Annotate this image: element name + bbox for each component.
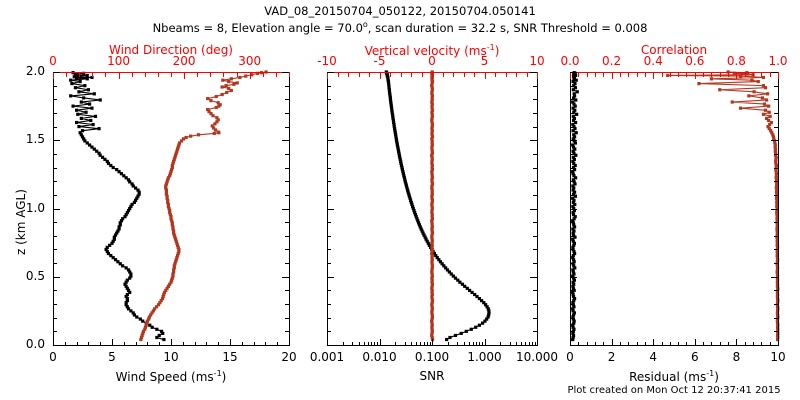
panel3-top-xtick	[770, 73, 771, 77]
panel3-xtick	[587, 342, 588, 345]
panel3-top-xtick	[587, 73, 588, 77]
panel1-ytick	[53, 222, 57, 223]
panel3-ytick	[570, 168, 574, 169]
panel2-xtick	[525, 342, 526, 345]
panel2-top-xtick	[338, 73, 339, 77]
panel3-xtick	[612, 339, 613, 345]
panel2-ytick-right	[530, 345, 537, 346]
panel3-xtick	[770, 342, 771, 345]
panel2-ytick-right	[533, 222, 537, 223]
panel2-top-xtick	[485, 73, 486, 79]
panel2-xtick	[516, 342, 517, 345]
panel2-xtick	[416, 342, 417, 345]
y-tick-label: 1.0	[26, 202, 45, 214]
panel3-ytick	[570, 331, 574, 332]
panel1-ytick	[53, 277, 60, 278]
panel2-plot-area	[327, 72, 539, 347]
panel3-top-xtick	[653, 73, 654, 79]
panel2-xtick	[537, 339, 538, 345]
panel2-ytick	[327, 127, 331, 128]
panel3-top-xtick	[736, 73, 737, 79]
x-tick-label: 4	[649, 351, 657, 363]
panel3-ytick-right	[774, 331, 778, 332]
plot-caption: Plot created on Mon Oct 12 20:37:41 2015	[567, 386, 780, 396]
panel1-ytick	[53, 154, 57, 155]
panel3-ytick-right	[774, 263, 778, 264]
panel-snr	[327, 72, 537, 345]
panel3-top-xtick	[670, 73, 671, 77]
panel3-top-xtick	[637, 73, 638, 77]
panel1-xtick	[136, 342, 137, 345]
panel1-ytick	[53, 113, 57, 114]
panel3-ytick-right	[774, 222, 778, 223]
panel1-axis-bottom	[53, 345, 289, 346]
series-markers-correlation	[666, 70, 779, 341]
panel3-xtick	[670, 342, 671, 345]
panel1-xtick	[206, 342, 207, 345]
panel3-xtick	[653, 339, 654, 345]
x-tick-label: 0.001	[310, 351, 344, 363]
panel1-ytick-right	[282, 345, 289, 346]
panel2-ytick	[327, 345, 334, 346]
panel2-top-xtick	[464, 73, 465, 77]
panel3-axis-right	[778, 72, 779, 346]
panel2-ytick-right	[533, 127, 537, 128]
panel3-ytick-right	[774, 249, 778, 250]
panel3-top-xtick	[578, 73, 579, 77]
panel2-top-xtick	[495, 73, 496, 77]
panel2-ytick-right	[530, 72, 537, 73]
panel3-ytick-right	[774, 99, 778, 100]
panel1-ytick-right	[282, 277, 289, 278]
panel1-ytick-right	[282, 140, 289, 141]
series-markers-vertical-velocity	[430, 70, 434, 341]
panel3-ytick-right	[771, 209, 778, 210]
y-tick-label: 2.0	[26, 65, 45, 77]
panel2-xtick	[432, 339, 433, 345]
panel1-top-xtick	[289, 73, 290, 77]
panel1-ytick-right	[285, 318, 289, 319]
panel3-ytick	[570, 154, 574, 155]
panel3-top-xtick	[703, 73, 704, 77]
panel1-top-xtick	[184, 73, 185, 79]
panel1-ytick-right	[285, 222, 289, 223]
panel1-xtick	[289, 339, 290, 345]
panel2-top-xtick	[327, 73, 328, 79]
panel2-top-xtick	[380, 73, 381, 79]
panel3-top-xtick	[778, 73, 779, 79]
panel3-top-xtick	[612, 73, 613, 79]
panel2-ytick-right	[530, 140, 537, 141]
panel3-ytick	[570, 127, 574, 128]
panel3-xtick	[637, 342, 638, 345]
top-x-tick-label: 100	[107, 55, 130, 67]
panel2-xtick	[359, 342, 360, 345]
panel1-xtick	[53, 339, 54, 345]
panel1-ytick-right	[285, 249, 289, 250]
panel1-ytick	[53, 263, 57, 264]
panel1-ytick-right	[282, 209, 289, 210]
top-x-tick-label: 0	[428, 55, 436, 67]
panel1-xtick	[65, 342, 66, 345]
panel3-ytick	[570, 236, 574, 237]
panel2-ytick-right	[533, 318, 537, 319]
panel1-ytick	[53, 290, 57, 291]
panel3-ytick-right	[771, 140, 778, 141]
panel2-ytick	[327, 154, 331, 155]
panel2-ytick-right	[533, 195, 537, 196]
panel3-ytick	[570, 249, 574, 250]
panel3-ytick-right	[774, 127, 778, 128]
panel3-top-xtick	[686, 73, 687, 77]
x-tick-label: 5	[108, 351, 116, 363]
panel1-xtick	[195, 342, 196, 345]
panel2-ytick-right	[533, 168, 537, 169]
series-line-correlation	[668, 72, 778, 340]
panel3-xtick	[761, 342, 762, 345]
panel1-ytick	[53, 86, 57, 87]
panel3-bottom-axis-label: Residual (ms-1)	[629, 370, 719, 383]
panel2-top-xtick	[401, 73, 402, 77]
panel2-ytick-right	[533, 249, 537, 250]
panel3-xtick	[745, 342, 746, 345]
panel1-top-xtick	[158, 73, 159, 77]
panel3-xtick	[628, 342, 629, 345]
panel3-xtick	[578, 342, 579, 345]
panel2-xtick	[473, 342, 474, 345]
top-x-tick-label: 300	[238, 55, 261, 67]
panel2-ytick	[327, 140, 334, 141]
panel1-xtick	[171, 339, 172, 345]
x-tick-label: 10	[163, 351, 178, 363]
panel3-top-xtick	[761, 73, 762, 77]
y-tick-label: 0.0	[26, 338, 45, 350]
top-x-tick-label: 0.4	[644, 55, 663, 67]
top-x-tick-label: 0.6	[685, 55, 704, 67]
panel2-ytick	[327, 86, 331, 87]
panel3-xtick	[778, 339, 779, 345]
panel3-xtick	[753, 342, 754, 345]
x-tick-label: 0	[566, 351, 574, 363]
panel1-top-xtick	[53, 73, 54, 79]
panel1-ytick	[53, 168, 57, 169]
panel2-top-xtick	[474, 73, 475, 77]
panel2-ytick	[327, 209, 334, 210]
panel2-ytick	[327, 168, 331, 169]
panel3-ytick-right	[774, 181, 778, 182]
panel2-ytick-right	[533, 113, 537, 114]
panel3-xtick	[728, 342, 729, 345]
panel2-ytick-right	[530, 209, 537, 210]
x-tick-label: 10	[770, 351, 785, 363]
panel-wind	[53, 72, 289, 345]
panel3-top-xtick	[570, 73, 571, 79]
panel3-ytick	[570, 113, 574, 114]
x-tick-label: 6	[691, 351, 699, 363]
panel2-ytick	[327, 195, 331, 196]
series-markers-snr	[385, 70, 491, 341]
p2-toplabel-sup: -1	[487, 43, 495, 52]
panel3-plot-area	[570, 72, 780, 347]
panel2-xtick	[405, 342, 406, 345]
panel3-top-xtick	[695, 73, 696, 79]
top-x-tick-label: 0.8	[727, 55, 746, 67]
panel2-xtick	[427, 342, 428, 345]
panel1-xtick	[230, 339, 231, 345]
panel1-ytick-right	[285, 195, 289, 196]
panel1-ytick-right	[285, 181, 289, 182]
p1-xlabel-sup: -1	[214, 369, 222, 378]
x-tick-label: 10.000	[516, 351, 558, 363]
panel3-ytick	[570, 181, 574, 182]
panel1-top-xtick	[276, 73, 277, 77]
panel2-top-xtick	[506, 73, 507, 77]
panel2-ytick	[327, 99, 331, 100]
panel2-xtick	[424, 342, 425, 345]
panel1-top-xtick	[132, 73, 133, 77]
panel1-plot-area	[53, 72, 291, 347]
panel1-xtick	[88, 342, 89, 345]
panel2-top-xtick	[348, 73, 349, 77]
panel2-ytick	[327, 249, 331, 250]
panel3-ytick-right	[774, 290, 778, 291]
panel2-xtick	[457, 342, 458, 345]
x-tick-label: 2	[608, 351, 616, 363]
panel3-xtick	[736, 339, 737, 345]
y-axis-label: z (km AGL)	[14, 189, 28, 255]
panel1-top-xtick	[263, 73, 264, 77]
panel1-ytick	[53, 331, 57, 332]
panel2-xtick	[482, 342, 483, 345]
panel1-ytick-right	[285, 331, 289, 332]
panel1-ytick-right	[285, 263, 289, 264]
panel2-ytick-right	[533, 236, 537, 237]
panel2-xtick	[430, 342, 431, 345]
x-tick-label: 0.100	[415, 351, 449, 363]
panel3-ytick	[570, 263, 574, 264]
panel3-ytick	[570, 72, 577, 73]
panel2-axis-bottom	[327, 345, 537, 346]
panel2-ytick	[327, 181, 331, 182]
panel2-top-xtick	[411, 73, 412, 77]
panel3-ytick-right	[774, 236, 778, 237]
panel2-xtick	[377, 342, 378, 345]
panel2-ytick-right	[533, 86, 537, 87]
panel2-ytick	[327, 277, 334, 278]
panel2-xtick	[535, 342, 536, 345]
panel2-top-xtick	[369, 73, 370, 77]
panel3-ytick-right	[774, 113, 778, 114]
panel3-xtick	[620, 342, 621, 345]
panel3-ytick-right	[774, 195, 778, 196]
panel2-xtick	[411, 342, 412, 345]
x-tick-label: 0.010	[362, 351, 396, 363]
panel2-xtick	[368, 342, 369, 345]
panel3-ytick	[570, 345, 577, 346]
panel1-ytick	[53, 127, 57, 128]
panel3-xtick	[570, 339, 571, 345]
panel1-xtick	[254, 342, 255, 345]
panel2-xtick	[485, 339, 486, 345]
top-x-tick-label: 0	[49, 55, 57, 67]
series-line-snr	[386, 72, 489, 340]
subtitle-part-a: Nbeams = 8, Elevation angle = 70.0	[153, 21, 363, 35]
panel3-top-xtick	[620, 73, 621, 77]
panel1-ytick	[53, 99, 57, 100]
panel1-xtick	[77, 342, 78, 345]
panel3-xtick	[711, 342, 712, 345]
panel1-top-xtick	[210, 73, 211, 77]
panel2-ytick	[327, 236, 331, 237]
plot-title: VAD_08_20150704_050122, 20150704.050141	[264, 6, 536, 18]
panel2-ytick	[327, 318, 331, 319]
panel1-ytick-right	[285, 154, 289, 155]
panel3-ytick-right	[774, 318, 778, 319]
panel3-ytick-right	[774, 86, 778, 87]
panel3-ytick-right	[774, 154, 778, 155]
panel1-ytick	[53, 209, 60, 210]
x-tick-label: 0	[49, 351, 57, 363]
panel1-ytick-right	[285, 304, 289, 305]
panel1-top-xtick	[197, 73, 198, 77]
panel3-xtick	[595, 342, 596, 345]
panel3-xtick	[603, 342, 604, 345]
panel2-xtick	[448, 342, 449, 345]
p3-xlabel-base: Residual (ms	[629, 370, 706, 384]
panel3-ytick	[570, 140, 577, 141]
p3-xlabel-sup: -1	[706, 369, 714, 378]
panel1-ytick	[53, 304, 57, 305]
panel1-top-xtick	[145, 73, 146, 77]
panel2-xtick	[380, 339, 381, 345]
panel2-xtick	[352, 342, 353, 345]
panel1-ytick-right	[285, 86, 289, 87]
top-x-tick-label: 1.0	[768, 55, 787, 67]
panel1-top-xtick	[105, 73, 106, 77]
p1-xlabel-base: Wind Speed (ms	[116, 370, 214, 384]
panel2-ytick	[327, 263, 331, 264]
panel3-top-xtick	[745, 73, 746, 77]
panel2-ytick-right	[533, 331, 537, 332]
panel3-ytick	[570, 209, 577, 210]
panel2-axis-right	[537, 72, 538, 346]
panel2-ytick	[327, 72, 334, 73]
panel2-ytick-right	[533, 99, 537, 100]
panel2-xtick	[464, 342, 465, 345]
panel1-ytick-right	[282, 72, 289, 73]
panel1-ytick	[53, 345, 60, 346]
panel2-xtick	[374, 342, 375, 345]
panel2-ytick	[327, 113, 331, 114]
panel2-xtick	[343, 342, 344, 345]
x-tick-label: 8	[733, 351, 741, 363]
panel2-top-xtick	[537, 73, 538, 79]
panel1-xtick	[124, 342, 125, 345]
panel3-ytick	[570, 195, 574, 196]
panel1-ytick-right	[285, 290, 289, 291]
panel3-xtick	[703, 342, 704, 345]
panel1-top-xtick	[92, 73, 93, 77]
panel3-top-xtick	[678, 73, 679, 77]
panel1-xtick	[218, 342, 219, 345]
panel1-top-xtick	[79, 73, 80, 77]
panel1-top-xtick	[119, 73, 120, 79]
panel1-ytick	[53, 140, 60, 141]
panel2-xtick	[510, 342, 511, 345]
panel3-top-xtick	[711, 73, 712, 77]
panel1-ytick-right	[285, 236, 289, 237]
x-tick-label: 20	[281, 351, 296, 363]
panel3-ytick	[570, 277, 577, 278]
panel2-ytick-right	[533, 154, 537, 155]
panel2-xtick	[469, 342, 470, 345]
panel1-ytick	[53, 72, 60, 73]
panel1-xtick	[265, 342, 266, 345]
panel1-ytick	[53, 318, 57, 319]
panel2-top-xtick	[390, 73, 391, 77]
panel2-top-xtick	[516, 73, 517, 77]
y-tick-label: 0.5	[26, 270, 45, 282]
y-tick-label: 1.5	[26, 133, 45, 145]
panel3-ytick-right	[771, 277, 778, 278]
panel2-top-xtick	[453, 73, 454, 77]
panel3-top-xtick	[753, 73, 754, 77]
panel2-xtick	[327, 339, 328, 345]
panel1-ytick-right	[285, 168, 289, 169]
panel2-top-xtick	[432, 73, 433, 79]
panel3-xtick	[662, 342, 663, 345]
top-x-tick-label: -10	[317, 55, 337, 67]
panel2-ytick	[327, 222, 331, 223]
panel2-top-xtick	[443, 73, 444, 77]
panel3-xtick	[720, 342, 721, 345]
panel2-xtick	[529, 342, 530, 345]
panel2-ytick	[327, 290, 331, 291]
panel2-bottom-axis-label: SNR	[420, 370, 445, 382]
panel3-top-xtick	[595, 73, 596, 77]
panel2-ytick	[327, 304, 331, 305]
panel2-ytick-right	[533, 263, 537, 264]
panel1-ytick	[53, 195, 57, 196]
panel2-xtick	[500, 342, 501, 345]
panel1-bottom-axis-label: Wind Speed (ms-1)	[116, 370, 227, 383]
panel1-xtick	[100, 342, 101, 345]
panel3-top-xtick	[728, 73, 729, 77]
panel3-xtick	[645, 342, 646, 345]
top-x-tick-label: -5	[374, 55, 386, 67]
panel3-ytick	[570, 99, 574, 100]
panel3-xtick	[686, 342, 687, 345]
panel2-top-xtick	[422, 73, 423, 77]
panel3-ytick	[570, 290, 574, 291]
panel2-xtick	[420, 342, 421, 345]
panel1-xtick	[242, 342, 243, 345]
panel1-axis-right	[289, 72, 290, 346]
panel1-ytick	[53, 249, 57, 250]
panel1-ytick	[53, 236, 57, 237]
panel1-xtick	[159, 342, 160, 345]
x-tick-label: 15	[222, 351, 237, 363]
top-x-tick-label: 200	[173, 55, 196, 67]
panel3-top-xtick	[603, 73, 604, 77]
panel2-top-xtick	[527, 73, 528, 77]
figure-canvas: VAD_08_20150704_050122, 20150704.050141 …	[0, 0, 800, 400]
panel3-ytick-right	[774, 304, 778, 305]
panel2-xtick	[371, 342, 372, 345]
panel1-ytick	[53, 181, 57, 182]
panel3-axis-top	[570, 72, 779, 73]
panel1-ytick-right	[285, 127, 289, 128]
